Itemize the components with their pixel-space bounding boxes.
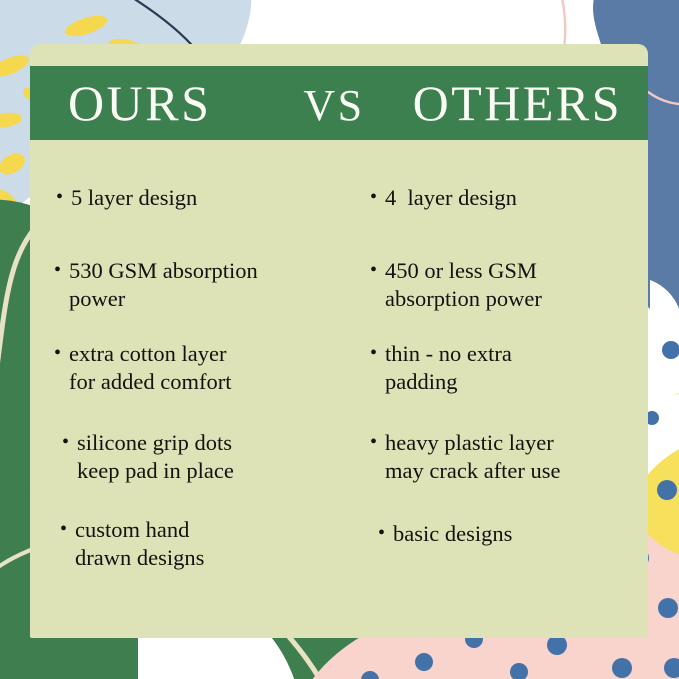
comparison-infographic: OURS VS OTHERS • 5 layer design • 530 GS…	[0, 0, 679, 679]
list-item: • 5 layer design	[56, 184, 344, 211]
list-item: • thin - no extra padding	[370, 340, 640, 395]
list-item-label: basic designs	[393, 520, 512, 547]
comparison-columns: • 5 layer design • 530 GSM absorption po…	[30, 148, 648, 638]
card-header-band: OURS VS OTHERS	[30, 66, 648, 140]
list-item: • silicone grip dots keep pad in place	[62, 429, 344, 484]
list-item-label: heavy plastic layer may crack after use	[385, 429, 561, 484]
bullet-icon: •	[56, 184, 63, 210]
bullet-icon: •	[370, 340, 377, 366]
bullet-icon: •	[54, 340, 61, 366]
list-item: • 450 or less GSM absorption power	[370, 257, 640, 312]
bullet-icon: •	[370, 429, 377, 455]
list-item: • basic designs	[378, 520, 640, 547]
header-vs-label: VS	[303, 84, 364, 128]
bullet-icon: •	[62, 429, 69, 455]
bullet-icon: •	[378, 520, 385, 546]
list-item: • 530 GSM absorption power	[54, 257, 344, 312]
comparison-card: OURS VS OTHERS • 5 layer design • 530 GS…	[30, 44, 648, 638]
list-item-label: thin - no extra padding	[385, 340, 512, 395]
list-item-label: silicone grip dots keep pad in place	[77, 429, 234, 484]
bullet-icon: •	[370, 184, 377, 210]
list-item-label: 450 or less GSM absorption power	[385, 257, 542, 312]
list-item-label: 5 layer design	[71, 184, 197, 211]
list-item: • extra cotton layer for added comfort	[54, 340, 344, 395]
header-ours-label: OURS	[68, 78, 211, 128]
list-item: • 4 layer design	[370, 184, 640, 211]
column-others: • 4 layer design • 450 or less GSM absor…	[354, 148, 648, 638]
list-item-label: 4 layer design	[385, 184, 517, 211]
bullet-icon: •	[370, 257, 377, 283]
header-others-label: OTHERS	[413, 78, 622, 128]
bullet-icon: •	[54, 257, 61, 283]
bullet-icon: •	[60, 516, 67, 542]
list-item: • custom hand drawn designs	[60, 516, 344, 571]
list-item-label: 530 GSM absorption power	[69, 257, 258, 312]
column-ours: • 5 layer design • 530 GSM absorption po…	[30, 148, 354, 638]
list-item: • heavy plastic layer may crack after us…	[370, 429, 640, 484]
header-title-row: OURS VS OTHERS	[30, 78, 648, 128]
list-item-label: extra cotton layer for added comfort	[69, 340, 231, 395]
list-item-label: custom hand drawn designs	[75, 516, 204, 571]
